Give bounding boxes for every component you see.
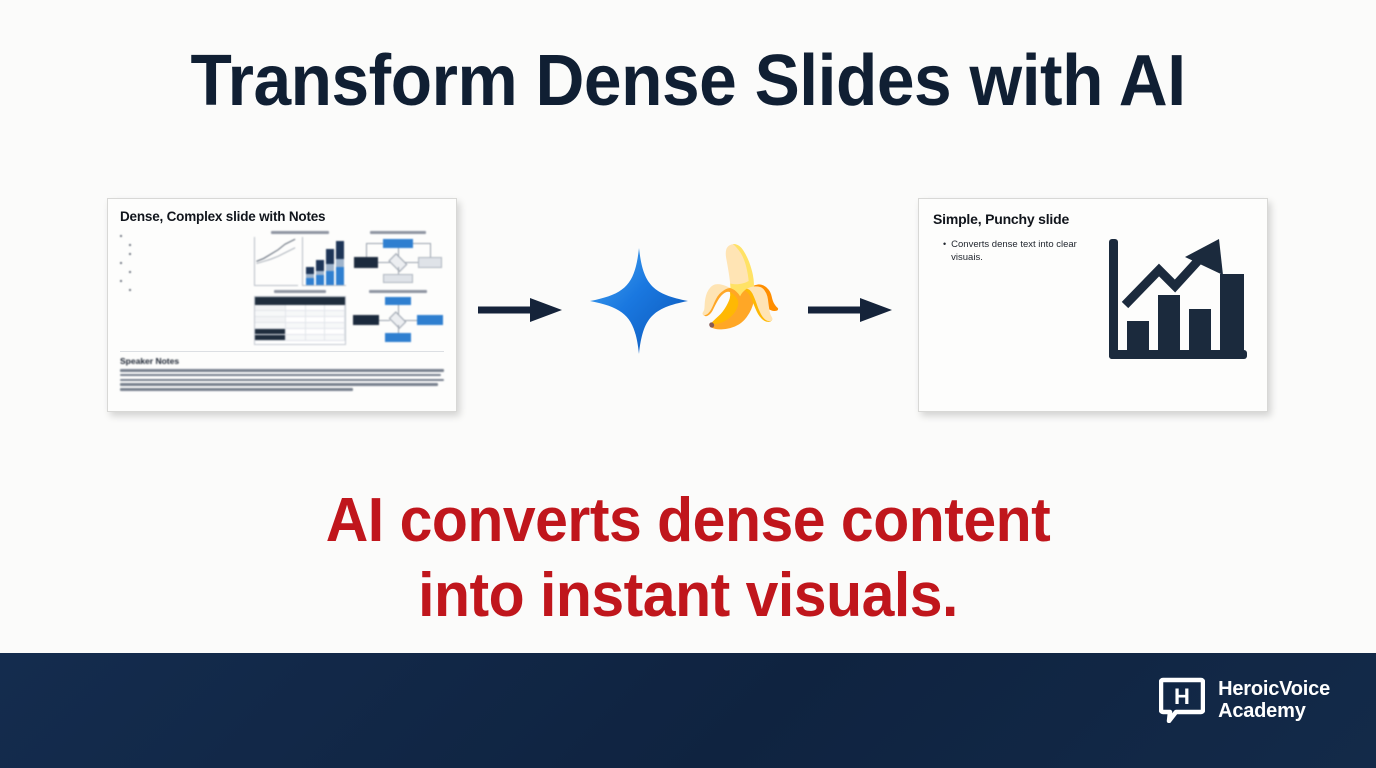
banana-emoji-icon: 🍌 — [690, 248, 787, 326]
slide-simple-bullet-text: Converts dense text into clear visuais. — [951, 239, 1093, 265]
slide-dense-body — [120, 231, 444, 345]
notes-heading: Speaker Notes — [120, 356, 444, 366]
visual-process-flow-diagram — [352, 231, 444, 286]
table-header-row — [255, 297, 345, 305]
bullet-dot-icon — [120, 262, 122, 264]
visual-row-top — [254, 231, 444, 286]
brand-logo[interactable]: H HeroicVoice Academy — [1159, 677, 1330, 723]
page-title: Transform Dense Slides with AI — [41, 40, 1334, 122]
slide-dense-notes: Speaker Notes — [120, 351, 444, 391]
mini-bar-chart — [302, 237, 346, 286]
slide-thumbnail-simple[interactable]: Simple, Punchy slide • Converts dense te… — [918, 198, 1268, 412]
slide-dense-title: Dense, Complex slide with Notes — [120, 209, 444, 224]
slide-dense-bullet-list — [120, 231, 248, 345]
visual-row-bottom — [254, 290, 444, 345]
list-item — [129, 249, 248, 255]
notes-body — [120, 369, 444, 391]
brand-name: HeroicVoice Academy — [1218, 678, 1330, 723]
bullet-dot-icon — [120, 235, 122, 237]
bullet-dot-icon: • — [943, 239, 946, 265]
caption-line-1: AI converts dense content — [34, 483, 1341, 558]
mini-line-chart — [254, 237, 298, 286]
bar-chart-growth-arrow-icon — [1103, 233, 1253, 378]
list-item — [129, 240, 248, 246]
bullet-dot-icon — [129, 289, 131, 291]
ai-sparkle-icon — [588, 246, 690, 361]
list-item — [120, 258, 248, 264]
bullet-dot-icon — [129, 253, 131, 255]
caption-text: AI converts dense content into instant v… — [34, 483, 1341, 633]
slide-dense-visuals — [254, 231, 444, 345]
arrow-right-icon — [478, 296, 562, 329]
speech-bubble-h-icon: H — [1159, 677, 1205, 723]
line-series-icon — [255, 237, 298, 266]
bullet-dot-icon — [129, 244, 131, 246]
visual-comparison-table — [254, 290, 346, 345]
slide-thumbnail-dense[interactable]: Dense, Complex slide with Notes — [107, 198, 457, 412]
arrow-right-icon — [808, 296, 892, 329]
visual-decision-flow-diagram — [352, 290, 444, 345]
svg-text:H: H — [1174, 684, 1190, 709]
slide-simple-title: Simple, Punchy slide — [933, 211, 1253, 227]
visual-line-and-bar-charts — [254, 231, 346, 286]
brand-line-2: Academy — [1218, 700, 1330, 722]
footer-bar: H HeroicVoice Academy — [0, 653, 1376, 768]
slide-simple-bullet: • Converts dense text into clear visuais… — [943, 239, 1093, 265]
table-row — [255, 335, 345, 341]
list-item — [120, 231, 248, 237]
bullet-dot-icon — [129, 271, 131, 273]
list-item — [120, 276, 248, 282]
list-item — [129, 285, 248, 291]
caption-line-2: into instant visuals. — [34, 558, 1341, 633]
bullet-dot-icon — [120, 280, 122, 282]
brand-line-1: HeroicVoice — [1218, 678, 1330, 700]
list-item — [129, 267, 248, 273]
